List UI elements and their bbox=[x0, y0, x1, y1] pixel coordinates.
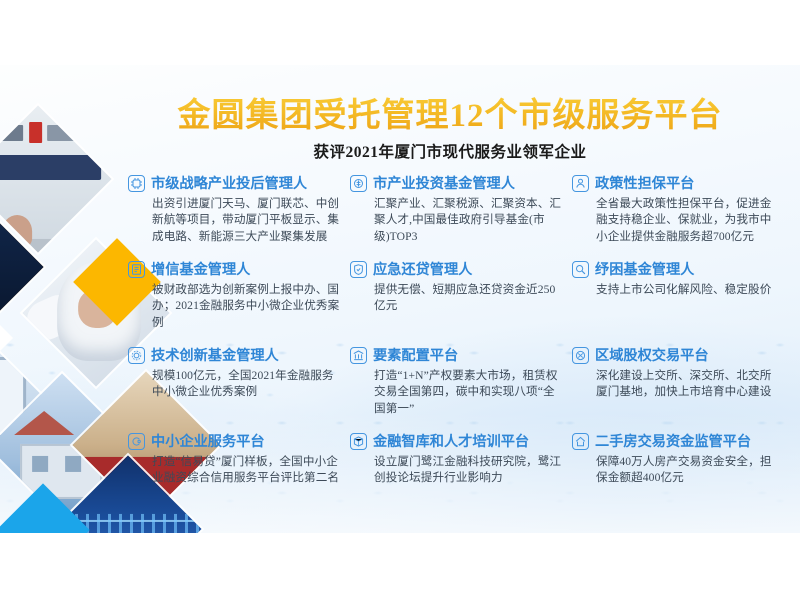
card-title: 区域股权交易平台 bbox=[595, 345, 709, 365]
platform-card: 二手房交易资金监管平台 保障40万人房产交易资金安全，担保金额超400亿元 bbox=[572, 431, 792, 517]
card-body: 打造“1+N”产权要素大市场，租赁权交易全国第四，碳中和实现八项“全国第一” bbox=[350, 368, 562, 417]
card-title: 要素配置平台 bbox=[373, 345, 458, 365]
shield-rescue-icon bbox=[350, 261, 367, 278]
page-subtitle: 获评2021年厦门市现代服务业领军企业 bbox=[110, 140, 790, 162]
card-header: 区域股权交易平台 bbox=[572, 345, 782, 365]
platform-card: 政策性担保平台 全省最大政策性担保平台，促进金融支持稳企业、保就业，为我市中小企… bbox=[572, 173, 792, 259]
card-header: 应急还贷管理人 bbox=[350, 259, 562, 279]
platform-card: 中小企业服务平台 打造“信易贷”厦门样板，全国中小企业融资综合信用服务平台评比第… bbox=[128, 431, 350, 517]
platform-card: 纾困基金管理人 支持上市公司化解风险、稳定股价 bbox=[572, 259, 792, 345]
card-title: 纾困基金管理人 bbox=[595, 259, 694, 279]
card-title: 市产业投资基金管理人 bbox=[373, 173, 515, 193]
platform-card: 市级战略产业投后管理人 出资引进厦门天马、厦门联芯、中创新航等项目，带动厦门平板… bbox=[128, 173, 350, 259]
card-header: 二手房交易资金监管平台 bbox=[572, 431, 782, 451]
think-tank-box-icon bbox=[350, 433, 367, 450]
platform-card: 增信基金管理人 被财政部选为创新案例上报中办、国办；2021金融服务中小微企业优… bbox=[128, 259, 350, 345]
card-title: 市级战略产业投后管理人 bbox=[151, 173, 307, 193]
card-body: 打造“信易贷”厦门样板，全国中小企业融资综合信用服务平台评比第二名 bbox=[128, 454, 340, 487]
card-title: 增信基金管理人 bbox=[151, 259, 250, 279]
platform-card-grid: 市级战略产业投后管理人 出资引进厦门天马、厦门联芯、中创新航等项目，带动厦门平板… bbox=[128, 173, 792, 533]
card-body: 被财政部选为创新案例上报中办、国办；2021金融服务中小微企业优秀案例 bbox=[128, 282, 340, 331]
card-title: 中小企业服务平台 bbox=[151, 431, 265, 451]
card-header: 中小企业服务平台 bbox=[128, 431, 340, 451]
exchange-cube-icon bbox=[572, 347, 589, 364]
card-title: 应急还贷管理人 bbox=[373, 259, 472, 279]
collage-photo-exchange-center bbox=[0, 105, 112, 252]
card-body: 深化建设上交所、深交所、北交所厦门基地，加快上市培育中心建设 bbox=[572, 368, 782, 401]
card-header: 要素配置平台 bbox=[350, 345, 562, 365]
platform-card: 区域股权交易平台 深化建设上交所、深交所、北交所厦门基地，加快上市培育中心建设 bbox=[572, 345, 792, 431]
page-title: 金圆集团受托管理12个市级服务平台 bbox=[110, 88, 790, 136]
card-title: 二手房交易资金监管平台 bbox=[595, 431, 751, 451]
bank-pillar-icon bbox=[350, 347, 367, 364]
platform-card: 技术创新基金管理人 规模100亿元，全国2021年金融服务中小微企业优秀案例 bbox=[128, 345, 350, 431]
card-body: 支持上市公司化解风险、稳定股价 bbox=[572, 282, 782, 298]
card-header: 市产业投资基金管理人 bbox=[350, 173, 562, 193]
card-body: 规模100亿元，全国2021年金融服务中小微企业优秀案例 bbox=[128, 368, 340, 401]
card-header: 技术创新基金管理人 bbox=[128, 345, 340, 365]
fund-coin-icon bbox=[350, 175, 367, 192]
card-body: 保障40万人房产交易资金安全，担保金额超400亿元 bbox=[572, 454, 782, 487]
card-title: 金融智库和人才培训平台 bbox=[373, 431, 529, 451]
guarantee-person-icon bbox=[572, 175, 589, 192]
platform-card: 要素配置平台 打造“1+N”产权要素大市场，租赁权交易全国第四，碳中和实现八项“… bbox=[350, 345, 572, 431]
relief-magnifier-icon bbox=[572, 261, 589, 278]
poster-canvas: 金圆集团受托管理12个市级服务平台 获评2021年厦门市现代服务业领军企业 市级… bbox=[0, 65, 800, 533]
card-header: 政策性担保平台 bbox=[572, 173, 782, 193]
card-body: 设立厦门鹭江金融科技研究院，鹭江创投论坛提升行业影响力 bbox=[350, 454, 562, 487]
house-supervision-icon bbox=[572, 433, 589, 450]
card-title: 政策性担保平台 bbox=[595, 173, 694, 193]
sme-service-icon bbox=[128, 433, 145, 450]
credit-document-icon bbox=[128, 261, 145, 278]
platform-card: 市产业投资基金管理人 汇聚产业、汇聚税源、汇聚资本、汇聚人才,中国最佳政府引导基… bbox=[350, 173, 572, 259]
card-body: 出资引进厦门天马、厦门联芯、中创新航等项目，带动厦门平板显示、集成电路、新能源三… bbox=[128, 196, 340, 245]
card-header: 纾困基金管理人 bbox=[572, 259, 782, 279]
card-header: 市级战略产业投后管理人 bbox=[128, 173, 340, 193]
card-header: 金融智库和人才培训平台 bbox=[350, 431, 562, 451]
chip-frame-icon bbox=[128, 175, 145, 192]
card-body: 提供无偿、短期应急还贷资金近250亿元 bbox=[350, 282, 562, 315]
card-title: 技术创新基金管理人 bbox=[151, 345, 279, 365]
platform-card: 应急还贷管理人 提供无偿、短期应急还贷资金近250亿元 bbox=[350, 259, 572, 345]
card-body: 全省最大政策性担保平台，促进金融支持稳企业、保就业，为我市中小企业提供金融服务超… bbox=[572, 196, 782, 245]
platform-card: 金融智库和人才培训平台 设立厦门鹭江金融科技研究院，鹭江创投论坛提升行业影响力 bbox=[350, 431, 572, 517]
card-body: 汇聚产业、汇聚税源、汇聚资本、汇聚人才,中国最佳政府引导基金(市级)TOP3 bbox=[350, 196, 562, 245]
card-header: 增信基金管理人 bbox=[128, 259, 340, 279]
innovation-gear-icon bbox=[128, 347, 145, 364]
